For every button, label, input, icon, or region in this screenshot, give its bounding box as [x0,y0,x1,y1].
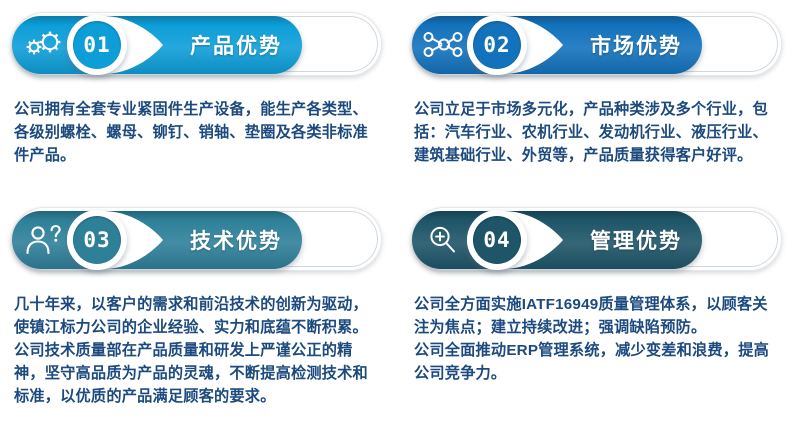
person-question-icon [20,223,66,257]
advantage-title: 技术优势 [172,211,300,269]
advantage-banner-04[interactable]: 04 管理优势 [404,195,790,287]
advantage-title: 管理优势 [572,211,700,269]
advantage-paragraph: 公司立足于市场多元化，产品种类涉及多个行业，包括：汽车行业、农机行业、发动机行业… [414,98,780,167]
advantage-card-01: 01 产品优势 公司拥有全套专业紧固件生产设备，能生产各类型、各级别螺栓、螺母、… [0,0,400,167]
advantage-paragraph: 几十年来，以客户的需求和前沿技术的创新为驱动，使镇江标力公司的企业经验、实力和底… [14,293,380,339]
advantage-banner-02[interactable]: 02 市场优势 [404,0,790,92]
network-nodes-icon [420,28,466,62]
advantage-paragraph: 公司全方面实施IATF16949质量管理体系，以顾客关注为焦点；建立持续改进；强… [414,293,780,339]
advantage-title: 市场优势 [572,16,700,74]
advantage-body-01: 公司拥有全套专业紧固件生产设备，能生产各类型、各级别螺栓、螺母、铆钉、销轴、垫圈… [14,98,380,167]
advantages-grid: 01 产品优势 公司拥有全套专业紧固件生产设备，能生产各类型、各级别螺栓、螺母、… [0,0,800,448]
advantage-banner-03[interactable]: 03 技术优势 [4,195,390,287]
advantage-body-04: 公司全方面实施IATF16949质量管理体系，以顾客关注为焦点；建立持续改进；强… [414,293,780,385]
advantage-body-02: 公司立足于市场多元化，产品种类涉及多个行业，包括：汽车行业、农机行业、发动机行业… [414,98,780,167]
advantage-number: 04 [473,216,521,264]
advantage-paragraph: 公司全面推动ERP管理系统，减少变差和浪费，提高公司竞争力。 [414,339,780,385]
advantage-paragraph: 公司技术质量部在产品质量和研发上严谨公正的精神，坚守高品质为产品的灵魂，不断提高… [14,339,380,408]
advantage-card-02: 02 市场优势 公司立足于市场多元化，产品种类涉及多个行业，包括：汽车行业、农机… [400,0,800,167]
advantage-title: 产品优势 [172,16,300,74]
advantage-body-03: 几十年来，以客户的需求和前沿技术的创新为驱动，使镇江标力公司的企业经验、实力和底… [14,293,380,408]
gears-icon [20,28,66,62]
advantage-number: 01 [73,21,121,69]
advantage-number: 02 [473,21,521,69]
magnifier-plus-icon [420,223,466,257]
advantage-card-03: 03 技术优势 几十年来，以客户的需求和前沿技术的创新为驱动，使镇江标力公司的企… [0,195,400,408]
advantage-paragraph: 公司拥有全套专业紧固件生产设备，能生产各类型、各级别螺栓、螺母、铆钉、销轴、垫圈… [14,98,380,167]
advantage-banner-01[interactable]: 01 产品优势 [4,0,390,92]
advantage-card-04: 04 管理优势 公司全方面实施IATF16949质量管理体系，以顾客关注为焦点；… [400,195,800,385]
advantage-number: 03 [73,216,121,264]
